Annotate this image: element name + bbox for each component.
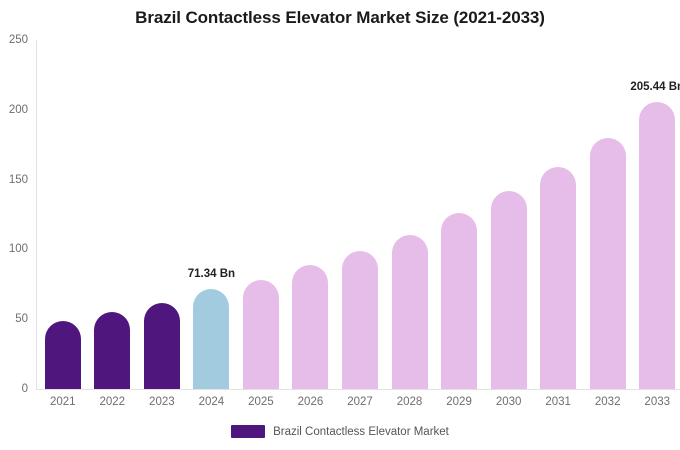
legend-item[interactable]: Brazil Contactless Elevator Market	[231, 425, 449, 438]
plot-area	[36, 40, 680, 389]
bar-2024[interactable]	[193, 289, 229, 389]
x-axis-tick-label: 2031	[534, 396, 582, 408]
bar-2027[interactable]	[342, 251, 378, 389]
x-axis-tick-label: 2030	[485, 396, 533, 408]
legend-label: Brazil Contactless Elevator Market	[273, 426, 449, 438]
bar-value-label-2024: 71.34 Bn	[188, 268, 235, 280]
bar-value-label-2033: 205.44 Bn	[630, 81, 680, 93]
y-axis-tick-label: 100	[0, 243, 28, 255]
x-axis-tick-label: 2029	[435, 396, 483, 408]
x-axis-tick-label: 2021	[39, 396, 87, 408]
x-axis-tick-label: 2032	[584, 396, 632, 408]
bar-2029[interactable]	[441, 213, 477, 389]
bar-2030[interactable]	[491, 191, 527, 389]
x-axis-line	[36, 389, 680, 390]
bar-chart: Brazil Contactless Elevator Market Size …	[0, 0, 680, 450]
y-axis-tick-label: 150	[0, 174, 28, 186]
chart-legend: Brazil Contactless Elevator Market	[0, 425, 680, 438]
y-axis-tick-label: 0	[0, 383, 28, 395]
x-axis-tick-label: 2025	[237, 396, 285, 408]
bar-2025[interactable]	[243, 280, 279, 389]
bar-2028[interactable]	[392, 235, 428, 389]
bar-2033[interactable]	[639, 102, 675, 389]
bar-2021[interactable]	[45, 321, 81, 389]
x-axis-tick-label: 2023	[138, 396, 186, 408]
y-axis-tick-label: 250	[0, 34, 28, 46]
y-axis-tick-label: 200	[0, 104, 28, 116]
x-axis-tick-label: 2027	[336, 396, 384, 408]
bar-2023[interactable]	[144, 303, 180, 389]
x-axis-tick-label: 2028	[386, 396, 434, 408]
y-axis-tick-label: 50	[0, 313, 28, 325]
x-axis-tick-label: 2022	[88, 396, 136, 408]
x-axis-tick-label: 2024	[187, 396, 235, 408]
legend-swatch	[231, 425, 265, 438]
bar-2022[interactable]	[94, 312, 130, 389]
bar-2031[interactable]	[540, 167, 576, 389]
bar-2032[interactable]	[590, 138, 626, 389]
x-axis-tick-label: 2033	[633, 396, 680, 408]
bar-2026[interactable]	[292, 265, 328, 389]
x-axis-tick-label: 2026	[286, 396, 334, 408]
chart-title: Brazil Contactless Elevator Market Size …	[0, 8, 680, 28]
